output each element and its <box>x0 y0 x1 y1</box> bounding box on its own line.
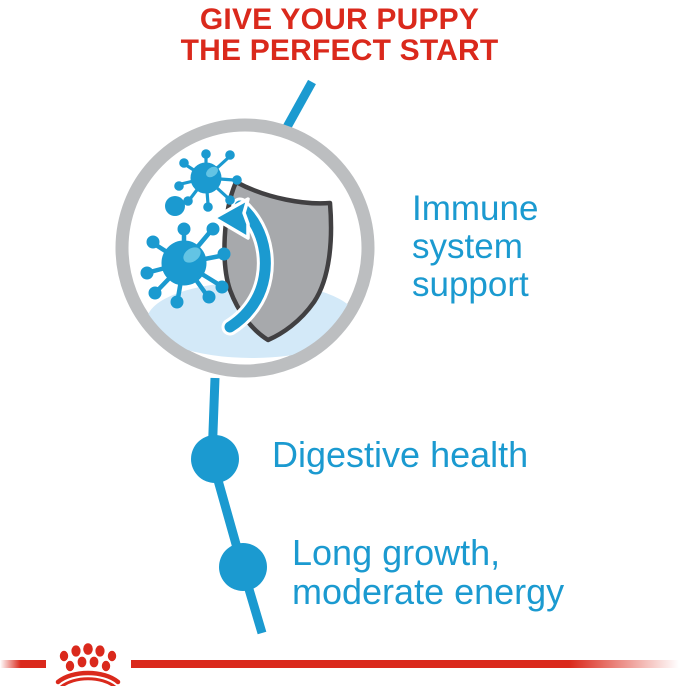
headline-line-1: GIVE YOUR PUPPY <box>0 4 679 35</box>
footer-brand-bar <box>0 620 679 686</box>
benefit-label-digestive: Digestive health <box>272 436 528 474</box>
virus-icon-small <box>175 150 242 212</box>
dot-icon <box>165 196 185 216</box>
node-dot-icon-growth <box>219 543 267 591</box>
benefit-label-immune: Immune system support <box>412 190 538 304</box>
headline-line-2: THE PERFECT START <box>0 35 679 66</box>
virus-icon-large <box>141 223 230 308</box>
brand-rule-left <box>0 660 46 668</box>
brand-rule-right <box>131 660 679 668</box>
ellipse-shadow <box>147 282 357 358</box>
infographic-panel: GIVE YOUR PUPPY THE PERFECT START <box>0 0 679 686</box>
circle-outline-ring <box>122 125 368 371</box>
royal-canin-crown-logo <box>58 643 118 686</box>
page-title: GIVE YOUR PUPPY THE PERFECT START <box>0 4 679 66</box>
benefit-label-growth: Long growth, moderate energy <box>292 533 564 611</box>
curved-arrow-icon <box>214 199 265 327</box>
node-dot-icon-digestive <box>191 435 239 483</box>
shield-icon <box>224 182 331 340</box>
